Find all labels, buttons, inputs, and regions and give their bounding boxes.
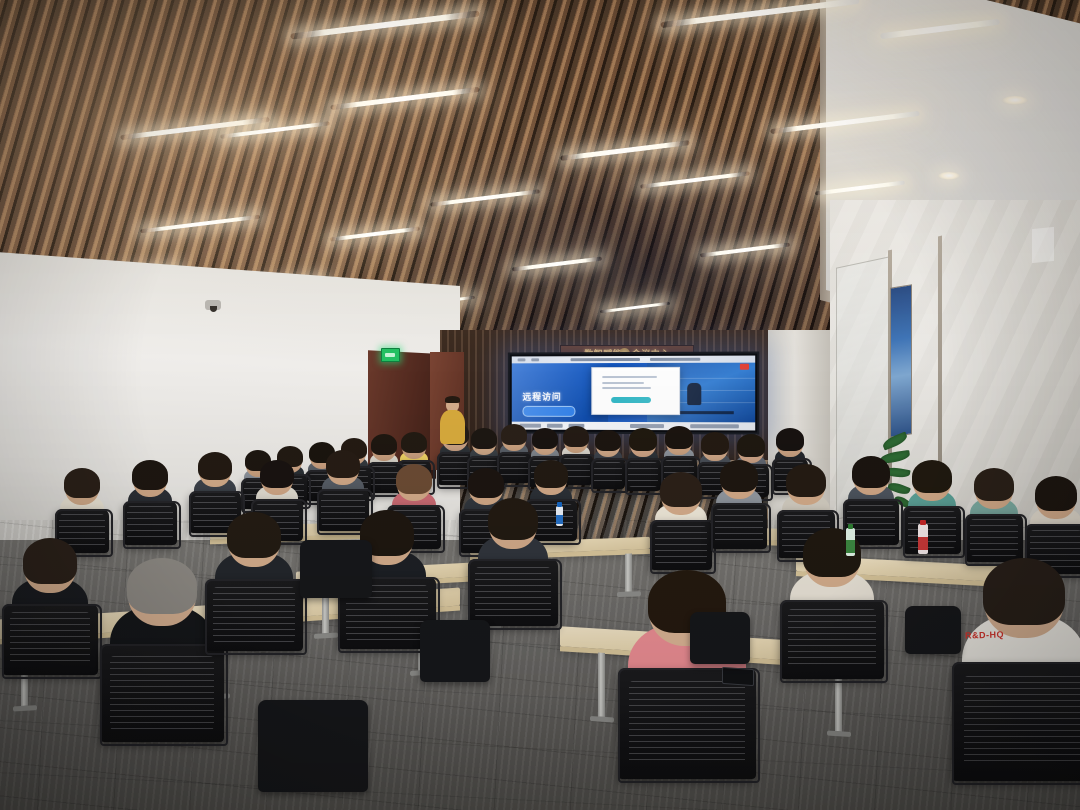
backpack <box>690 612 750 664</box>
bottle-cap <box>557 502 561 507</box>
water-bottle-red <box>918 524 928 554</box>
bottle-label <box>556 515 563 524</box>
bottle-label <box>846 540 855 552</box>
shirt-print-text: R&D-HQ <box>965 629 1004 640</box>
backpack <box>258 700 368 792</box>
bottle-cap <box>920 520 926 525</box>
conference-room-photo: 数智赋能 · 会议中心 远程访问 <box>0 0 1080 810</box>
water-bottle-blue <box>556 506 563 526</box>
bottle-label <box>918 537 928 550</box>
backpack <box>905 606 961 654</box>
bottle-cap <box>848 524 854 529</box>
smartphone-on-desk[interactable] <box>722 667 754 686</box>
backpack <box>300 540 372 598</box>
backpack <box>420 620 490 682</box>
water-bottle-green <box>846 528 855 556</box>
desk-objects <box>0 0 1080 810</box>
